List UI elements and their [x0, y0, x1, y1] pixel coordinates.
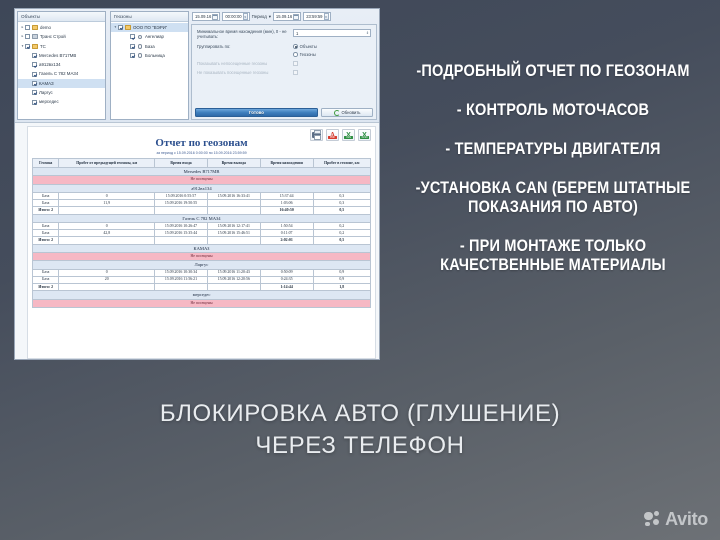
group-by-row: Группировать по: Объекты Геозоны — [197, 44, 371, 57]
report-column-header: Пробег от предыдущей геозоны, км — [59, 158, 155, 167]
report-cell: 0,9 — [313, 276, 370, 283]
object-tree-item-label: Ларгус — [39, 88, 53, 97]
settings-box: Минимальное время нахождения (мин), 0 - … — [191, 24, 377, 120]
xlsx-tag: XLSX — [360, 136, 369, 140]
report-group-row: КАМАЗ — [33, 244, 371, 252]
min-time-row: Минимальное время нахождения (мин), 0 - … — [197, 29, 371, 40]
report-sheet: A PDF X XLS X XLSX Отчет по геозонам за … — [27, 126, 376, 359]
report-column-header: Геозона — [33, 158, 59, 167]
refresh-button[interactable]: Обновить — [321, 108, 373, 117]
geozone-tree-item-label: Ангелиар — [145, 32, 164, 41]
report-area: A PDF X XLS X XLSX Отчет по геозонам за … — [15, 122, 379, 359]
report-cell — [207, 207, 260, 214]
report-column-header: Время входа — [155, 158, 208, 167]
min-time-input[interactable]: 1 ⇕ — [293, 29, 371, 37]
stepper-icon[interactable]: ⇕ — [366, 30, 370, 37]
date-from-field[interactable]: 15.09.16 — [192, 12, 220, 21]
caption-line-2: ЧЕРЕЗ ТЕЛЕФОН — [0, 430, 720, 462]
report-total-row: Итого: 21:14:441,8 — [33, 284, 371, 291]
hide-visited-row: Не показывать посещенные геозоны — [197, 70, 371, 75]
objects-tree-header: Объекты — [18, 12, 105, 22]
object-tree-item-node[interactable]: Mercedes B717MB — [18, 51, 105, 60]
folder-icon — [125, 25, 131, 30]
pdf-export-icon[interactable]: A PDF — [326, 129, 339, 141]
object-tree-item-node[interactable]: а912вх134 — [18, 60, 105, 69]
table-row: База11,915.09.2016 19:50:551:03:060,3 — [33, 200, 371, 207]
report-cell: 0:24:35 — [260, 276, 313, 283]
report-header-row: ГеозонаПробег от предыдущей геозоны, кмВ… — [33, 158, 371, 167]
report-column-header: Пробег в геозоне, км — [313, 158, 370, 167]
report-cell: 15:37:44 — [260, 193, 313, 200]
report-export-toolbar: A PDF X XLS X XLSX — [310, 129, 371, 141]
checkbox-icon[interactable] — [130, 53, 135, 58]
report-cell: 1:14:44 — [260, 284, 313, 291]
novisit-label: Не посещены — [33, 176, 371, 184]
min-time-value: 1 — [296, 30, 298, 37]
caption-line-1: БЛОКИРОВКА АВТО (ГЛУШЕНИЕ) — [0, 398, 720, 430]
report-cell: База — [33, 200, 59, 207]
avito-watermark: Avito — [644, 510, 708, 528]
checkbox-icon[interactable] — [32, 72, 37, 77]
avito-logo-icon — [644, 511, 661, 528]
table-row: База42,815.09.2016 15:35:4415.09.2016 15… — [33, 230, 371, 237]
chevron-down-icon-2[interactable]: ▾ — [324, 13, 329, 20]
object-tree-item-node[interactable]: ▸demo — [18, 23, 105, 32]
geozone-tree-item-node[interactable]: База — [111, 42, 188, 51]
object-tree-item-label: Транс Строй — [40, 32, 66, 41]
object-tree-item-node[interactable]: мерседес — [18, 97, 105, 106]
calendar-icon[interactable] — [212, 14, 218, 20]
report-cell: Итого: 2 — [33, 237, 59, 244]
time-from-field[interactable]: 00:00:00 ▾ — [222, 12, 249, 21]
report-cell: 15.09.2016 15:35:44 — [155, 230, 208, 237]
table-row: База015.09.2016 10:26:4715.09.2016 12:17… — [33, 222, 371, 229]
config-strip: Объекты ▸demo▸Транс Строй▾ТСMercedes B71… — [15, 9, 379, 122]
report-total-row: Итого: 22:02:010,5 — [33, 237, 371, 244]
show-unvisited-checkbox[interactable] — [293, 61, 298, 66]
objects-tree-body[interactable]: ▸demo▸Транс Строй▾ТСMercedes B717MBа912в… — [18, 22, 105, 107]
object-tree-item-label: Mercedes B717MB — [39, 51, 76, 60]
radio-option-geozones[interactable]: Геозоны — [293, 52, 317, 57]
group-by-options[interactable]: Объекты Геозоны — [293, 44, 317, 57]
report-cell: 0 — [59, 193, 155, 200]
radio-icon-objects[interactable] — [293, 44, 298, 49]
geozone-tree-item-node[interactable]: Больница — [111, 51, 188, 60]
object-tree-item-label: Газель С 782 МА34 — [39, 69, 78, 78]
checkbox-icon[interactable] — [118, 25, 123, 30]
group-label: Ларгус — [33, 261, 371, 269]
checkbox-icon[interactable] — [32, 90, 37, 95]
folder-icon — [32, 25, 38, 30]
report-cell — [59, 207, 155, 214]
report-novisit-row: Не посещены — [33, 252, 371, 260]
min-time-label: Минимальное время нахождения (мин), 0 - … — [197, 29, 293, 40]
geozone-tree-item-node[interactable]: ▾ООО ПО "ВЭРИ" — [111, 23, 188, 32]
report-cell: 0,9 — [313, 269, 370, 276]
novisit-label: Не посещены — [33, 299, 371, 307]
time-from-value: 00:00:00 — [225, 14, 241, 19]
report-cell: 15.09.2016 15:46:51 — [207, 230, 260, 237]
geozone-report-table: ГеозонаПробег от предыдущей геозоны, кмВ… — [32, 158, 371, 308]
object-tree-item-label: КАМАЗ — [39, 79, 54, 88]
geozones-tree-body[interactable]: ▾ООО ПО "ВЭРИ"АнгелиарБазаБольница — [111, 22, 188, 60]
xls-export-icon[interactable]: X XLS — [342, 129, 355, 141]
report-cell: 0,2 — [313, 222, 370, 229]
report-cell — [155, 237, 208, 244]
time-to-value: 23:59:59 — [306, 14, 322, 19]
promo-line: -ПОДРОБНЫЙ ОТЧЕТ ПО ГЕОЗОНАМ — [411, 62, 694, 81]
report-cell: 15.09.2016 16:33:41 — [207, 193, 260, 200]
report-column-header: Время нахождения — [260, 158, 313, 167]
report-cell: База — [33, 222, 59, 229]
report-cell — [207, 200, 260, 207]
action-button-row: Готово Обновить — [192, 106, 376, 119]
report-cell: 15.09.2016 12:20:56 — [207, 276, 260, 283]
object-tree-item-label: а912вх134 — [39, 60, 61, 69]
settings-area: 15.09.16 00:00:00 ▾ Период ▾ 15.09.16 23… — [191, 11, 377, 120]
report-group-row: а912вх134 — [33, 184, 371, 192]
checkbox-icon[interactable] — [32, 81, 37, 86]
promo-line: -УСТАНОВКА CAN (БЕРЕМ ШТАТНЫЕ ПОКАЗАНИЯ … — [411, 179, 694, 217]
checkbox-icon[interactable] — [32, 53, 37, 58]
report-cell — [207, 237, 260, 244]
date-to-value: 15.09.16 — [276, 14, 292, 19]
geozone-tree-item-label: ООО ПО "ВЭРИ" — [133, 23, 168, 32]
report-group-row: Ларгус — [33, 261, 371, 269]
object-tree-item-label: мерседес — [39, 97, 59, 106]
report-cell — [155, 207, 208, 214]
promo-text-block: -ПОДРОБНЫЙ ОТЧЕТ ПО ГЕОЗОНАМ- КОНТРОЛЬ М… — [392, 62, 714, 275]
report-column-header: Время выхода — [207, 158, 260, 167]
checkbox-icon[interactable] — [32, 100, 37, 105]
geozone-marker-icon — [137, 34, 143, 39]
report-cell: 0,5 — [313, 237, 370, 244]
geozone-tree-item-node[interactable]: Ангелиар — [111, 32, 188, 41]
object-tree-item-label: demo — [40, 23, 51, 32]
report-cell: 1:03:06 — [260, 200, 313, 207]
report-novisit-row: Не посещены — [33, 299, 371, 307]
checkbox-icon[interactable] — [130, 34, 135, 39]
avito-wordmark: Avito — [665, 510, 708, 528]
date-from-value: 15.09.16 — [195, 14, 211, 19]
report-cell — [155, 284, 208, 291]
report-cell: 20 — [59, 276, 155, 283]
report-cell: 15.09.2016 19:50:55 — [155, 200, 208, 207]
geozone-tree-item-label: База — [145, 42, 155, 51]
object-tree-item-label: ТС — [40, 42, 46, 51]
report-cell: 0,3 — [313, 200, 370, 207]
show-unvisited-row: Показывать непосещенные геозоны — [197, 61, 371, 66]
report-cell — [207, 284, 260, 291]
report-cell: 0,2 — [313, 230, 370, 237]
print-icon[interactable] — [310, 129, 323, 141]
pdf-tag: PDF — [328, 136, 337, 140]
geozone-marker-icon — [137, 53, 143, 58]
report-cell: 1,8 — [313, 284, 370, 291]
report-cell: 0 — [59, 222, 155, 229]
table-row: База2015.09.2016 11:56:2115.09.2016 12:2… — [33, 276, 371, 283]
objects-tree-panel[interactable]: Объекты ▸demo▸Транс Строй▾ТСMercedes B71… — [17, 11, 106, 120]
report-group-row: мерседес — [33, 291, 371, 299]
report-group-row: Газель С 782 МА34 — [33, 214, 371, 222]
promo-line: - ПРИ МОНТАЖЕ ТОЛЬКО КАЧЕСТВЕННЫЕ МАТЕРИ… — [411, 237, 694, 275]
refresh-icon — [334, 110, 340, 116]
geozones-tree-header: Геозоны — [111, 12, 188, 22]
report-cell: База — [33, 276, 59, 283]
table-row: База015.09.2016 10:30:3415.09.2016 11:20… — [33, 269, 371, 276]
report-cell: 0 — [59, 269, 155, 276]
object-tree-item-node[interactable]: КАМАЗ — [18, 79, 105, 88]
group-label: КАМАЗ — [33, 244, 371, 252]
radio-label-objects: Объекты — [300, 44, 317, 49]
report-novisit-row: Не посещены — [33, 176, 371, 184]
report-table-body: Mersedes B717MBНе посещеныа912вх134База0… — [33, 167, 371, 307]
report-cell: Итого: 2 — [33, 284, 59, 291]
radio-label-geozones: Геозоны — [300, 52, 316, 57]
report-cell: 15.09.2016 10:26:47 — [155, 222, 208, 229]
date-to-field[interactable]: 15.09.16 — [273, 12, 301, 21]
report-cell: 1:50:54 — [260, 222, 313, 229]
group-label: мерседес — [33, 291, 371, 299]
radio-option-objects[interactable]: Объекты — [293, 44, 317, 49]
group-label: Mersedes B717MB — [33, 167, 371, 175]
geozone-tree-item-label: Больница — [145, 51, 165, 60]
report-cell: 11,9 — [59, 200, 155, 207]
checkbox-icon[interactable] — [25, 25, 30, 30]
group-label: Газель С 782 МА34 — [33, 214, 371, 222]
report-cell: 15.09.2016 0:55:57 — [155, 193, 208, 200]
checkbox-icon[interactable] — [32, 62, 37, 67]
geozones-tree-panel[interactable]: Геозоны ▾ООО ПО "ВЭРИ"АнгелиарБазаБольни… — [110, 11, 189, 120]
checkbox-icon[interactable] — [130, 44, 135, 49]
gps-tracking-app-window: Объекты ▸demo▸Транс Строй▾ТСMercedes B71… — [14, 8, 380, 360]
hide-visited-checkbox[interactable] — [293, 70, 298, 75]
report-cell: 15.09.2016 11:20:43 — [207, 269, 260, 276]
report-cell: 16:40:50 — [260, 207, 313, 214]
time-to-field[interactable]: 23:59:59 ▾ — [303, 12, 330, 21]
report-cell: 42,8 — [59, 230, 155, 237]
report-cell: 15.09.2016 10:30:34 — [155, 269, 208, 276]
group-by-label: Группировать по: — [197, 44, 293, 49]
report-cell: 0,3 — [313, 193, 370, 200]
apply-button[interactable]: Готово — [195, 108, 318, 117]
report-cell: 15.09.2016 12:17:41 — [207, 222, 260, 229]
object-tree-item-node[interactable]: ▾ТС — [18, 42, 105, 51]
object-tree-item-node[interactable]: ▸Транс Строй — [18, 32, 105, 41]
report-subtitle: за период с 15.09.2016 0:00:00 по 15.09.… — [32, 151, 371, 155]
report-cell: 2:02:01 — [260, 237, 313, 244]
period-label: Период — [252, 14, 267, 19]
report-total-row: Итого: 216:40:500,5 — [33, 207, 371, 214]
chevron-down-icon[interactable]: ▾ — [243, 13, 248, 20]
report-cell — [59, 284, 155, 291]
table-row: База015.09.2016 0:55:5715.09.2016 16:33:… — [33, 193, 371, 200]
folder-icon — [32, 44, 38, 49]
radio-icon-geozones[interactable] — [293, 52, 298, 57]
promo-line: - КОНТРОЛЬ МОТОЧАСОВ — [411, 101, 694, 120]
group-label: а912вх134 — [33, 184, 371, 192]
report-cell: 15.09.2016 11:56:21 — [155, 276, 208, 283]
hide-visited-label: Не показывать посещенные геозоны — [197, 70, 293, 75]
folder-icon — [32, 34, 38, 39]
report-cell: 0,5 — [313, 207, 370, 214]
report-cell: Итого: 2 — [33, 207, 59, 214]
show-unvisited-label: Показывать непосещенные геозоны — [197, 61, 293, 66]
period-dropdown-icon[interactable]: ▾ — [269, 14, 271, 20]
report-group-row: Mersedes B717MB — [33, 167, 371, 175]
report-cell: 0:11:07 — [260, 230, 313, 237]
xlsx-export-icon[interactable]: X XLSX — [358, 129, 371, 141]
date-range-row: 15.09.16 00:00:00 ▾ Период ▾ 15.09.16 23… — [191, 11, 377, 22]
novisit-label: Не посещены — [33, 252, 371, 260]
checkbox-icon[interactable] — [25, 44, 30, 49]
checkbox-icon[interactable] — [25, 34, 30, 39]
report-cell — [59, 237, 155, 244]
promo-line: - ТЕМПЕРАТУРЫ ДВИГАТЕЛЯ — [411, 140, 694, 159]
report-cell: База — [33, 193, 59, 200]
report-cell: База — [33, 230, 59, 237]
refresh-button-label: Обновить — [342, 110, 361, 115]
report-table-head: ГеозонаПробег от предыдущей геозоны, кмВ… — [33, 158, 371, 167]
bottom-caption: БЛОКИРОВКА АВТО (ГЛУШЕНИЕ) ЧЕРЕЗ ТЕЛЕФОН — [0, 398, 720, 462]
object-tree-item-node[interactable]: Газель С 782 МА34 — [18, 69, 105, 78]
xls-tag: XLS — [344, 136, 353, 140]
report-cell: База — [33, 269, 59, 276]
report-cell: 0:50:09 — [260, 269, 313, 276]
geozone-marker-icon — [137, 44, 143, 49]
calendar-icon-2[interactable] — [293, 14, 299, 20]
object-tree-item-node[interactable]: Ларгус — [18, 88, 105, 97]
